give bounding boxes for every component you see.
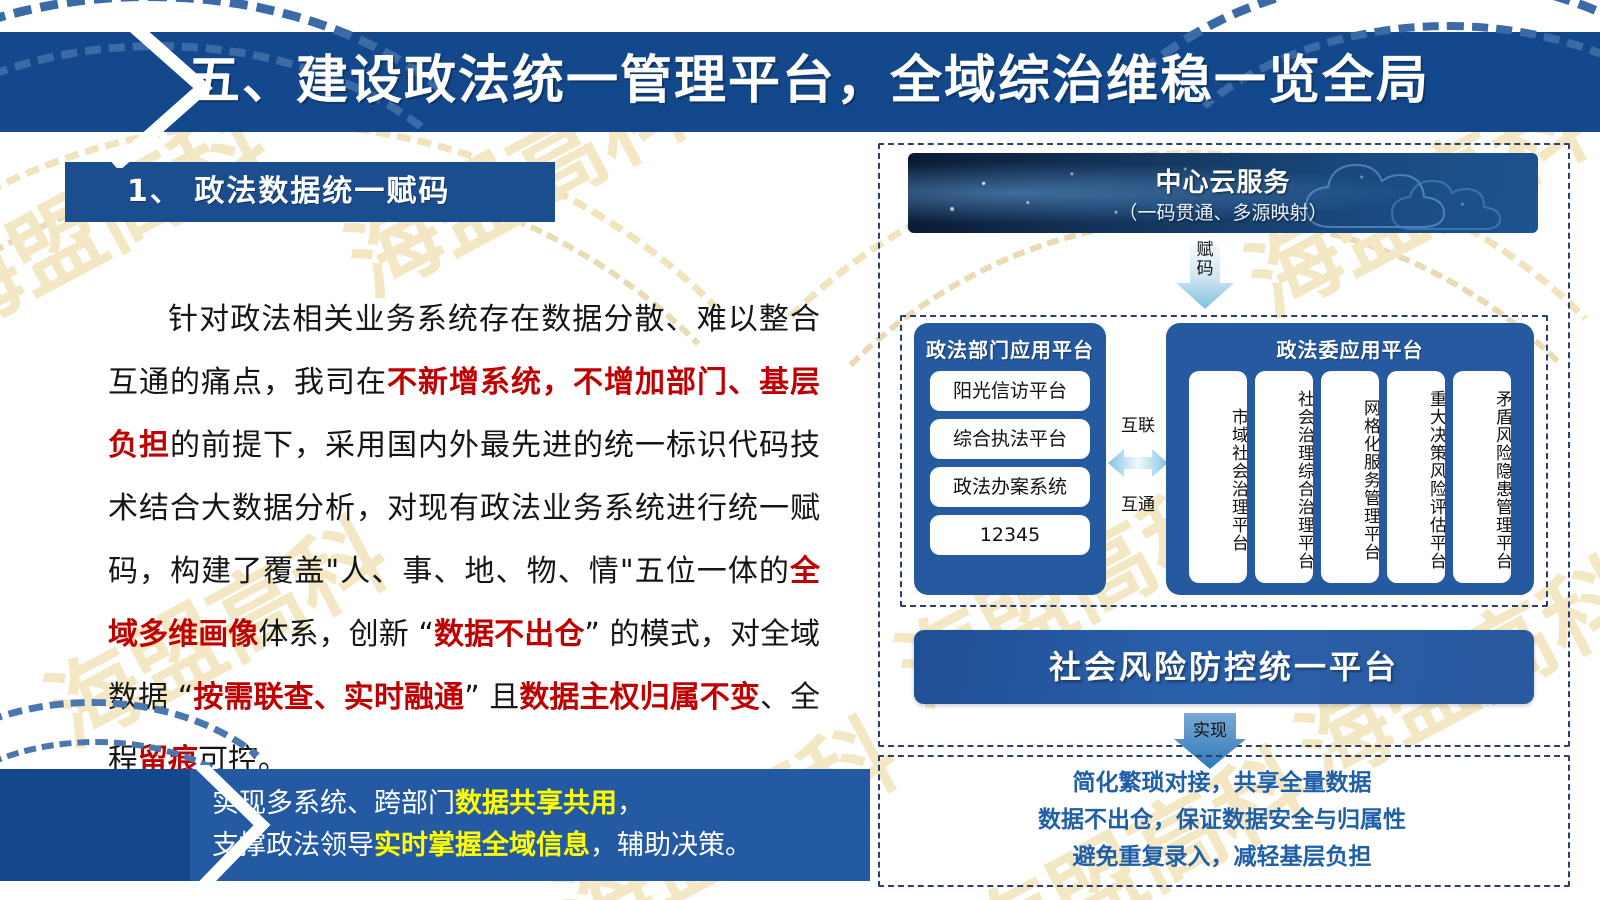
architecture-diagram: 中心云服务 （一码贯通、多源映射） 赋 码: [878, 143, 1578, 888]
section-heading: 1、 政法数据统一赋码: [65, 162, 555, 222]
text-run: 实现多系统、跨部门: [212, 788, 455, 819]
text-run: ” 且: [464, 680, 519, 715]
dept-platform-item[interactable]: 综合执法平台: [930, 419, 1090, 459]
cloud-subtitle: （一码贯通、多源映射）: [908, 198, 1538, 225]
summary-banner-line-1: 实现多系统、跨部门数据共享共用，: [212, 783, 852, 825]
risk-control-platform-bar: 社会风险防控统一平台: [914, 630, 1534, 704]
interconnect-label-bottom: 互通: [1108, 490, 1168, 515]
dept-platform-item[interactable]: 政法办案系统: [930, 467, 1090, 507]
arrow-left-right-icon: [1108, 445, 1168, 481]
risk-control-platform-label: 社会风险防控统一平台: [914, 630, 1534, 704]
dept-platform-item[interactable]: 阳光信访平台: [930, 371, 1090, 411]
text-run: ，: [617, 788, 644, 819]
outcome-item: 简化繁琐对接，共享全量数据: [878, 765, 1566, 802]
interconnect-label-top: 互联: [1108, 411, 1168, 436]
dept-platform-item[interactable]: 12345: [930, 515, 1090, 555]
outcomes-list: 简化繁琐对接，共享全量数据 数据不出仓，保证数据安全与归属性 避免重复录入，减轻…: [878, 765, 1566, 876]
summary-banner-line-2: 支撑政法领导实时掌握全域信息，辅助决策。: [212, 825, 852, 867]
fuma-arrow-label: 赋 码: [1174, 241, 1236, 279]
summary-banner-text: 实现多系统、跨部门数据共享共用， 支撑政法领导实时掌握全域信息，辅助决策。: [212, 783, 852, 867]
commission-platform-title: 政法委应用平台: [1166, 323, 1534, 363]
commission-platform-item[interactable]: 重大决策风险评估平台: [1387, 371, 1445, 583]
body-paragraph-text: 针对政法相关业务系统存在数据分散、难以整合互通的痛点，我司在不新增系统，不增加部…: [108, 302, 820, 778]
emphasis-run: 数据主权归属不变: [519, 680, 760, 715]
commission-platform-item[interactable]: 矛盾风险隐患管理平台: [1453, 371, 1511, 583]
shixian-arrow-label: 实现: [1174, 716, 1246, 741]
fuma-label-char-1: 赋: [1197, 240, 1214, 260]
cloud-title: 中心云服务: [908, 162, 1538, 199]
commission-platform-item[interactable]: 市域社会治理平台: [1189, 371, 1247, 583]
text-run: 的前提下，采用国内外最先进的统一标识代码技术结合大数据分析，对现有政法业务系统进…: [108, 428, 820, 589]
outcome-item: 数据不出仓，保证数据安全与归属性: [878, 802, 1566, 839]
text-run: 体系，创新 “: [258, 617, 434, 652]
page-title: 五、建设政法统一管理平台，全域综治维稳一览全局: [188, 31, 1430, 131]
emphasis-run: 按需联查、实时融通: [193, 680, 464, 715]
slide-title-bar: 五、建设政法统一管理平台，全域综治维稳一览全局: [0, 32, 1600, 132]
commission-platform-items: 市域社会治理平台 社会治理综合治理平台 网格化服务管理平台 重大决策风险评估平台…: [1166, 371, 1534, 583]
fuma-label-char-2: 码: [1197, 259, 1214, 279]
section-heading-label: 1、 政法数据统一赋码: [65, 162, 555, 222]
emphasis-run: 实时掌握全域信息: [374, 830, 590, 861]
dept-platform-panel: 政法部门应用平台 阳光信访平台 综合执法平台 政法办案系统 12345: [914, 323, 1106, 595]
fuma-arrow: 赋 码: [1174, 239, 1236, 311]
commission-platform-panel: 政法委应用平台 市域社会治理平台 社会治理综合治理平台 网格化服务管理平台 重大…: [1166, 323, 1534, 595]
commission-platform-item[interactable]: 网格化服务管理平台: [1321, 371, 1379, 583]
dept-platform-title: 政法部门应用平台: [914, 323, 1106, 363]
emphasis-run: 数据共享共用: [455, 788, 617, 819]
text-run: ，辅助决策。: [590, 830, 752, 861]
text-run: 支撑政法领导: [212, 830, 374, 861]
summary-banner: 实现多系统、跨部门数据共享共用， 支撑政法领导实时掌握全域信息，辅助决策。: [0, 769, 870, 881]
commission-platform-item[interactable]: 社会治理综合治理平台: [1255, 371, 1313, 583]
slide-page: 海盟高科 海盟高科 海盟高科 海盟高科 海盟高科 海盟高科 海盟高科 海盟高科 …: [0, 0, 1600, 900]
interconnect-link: 互联 互通: [1108, 411, 1168, 515]
outcome-item: 避免重复录入，减轻基层负担: [878, 839, 1566, 876]
emphasis-run: 数据不出仓: [434, 617, 584, 652]
body-paragraph: 针对政法相关业务系统存在数据分散、难以整合互通的痛点，我司在不新增系统，不增加部…: [108, 288, 820, 792]
center-cloud-service-header: 中心云服务 （一码贯通、多源映射）: [908, 153, 1538, 233]
